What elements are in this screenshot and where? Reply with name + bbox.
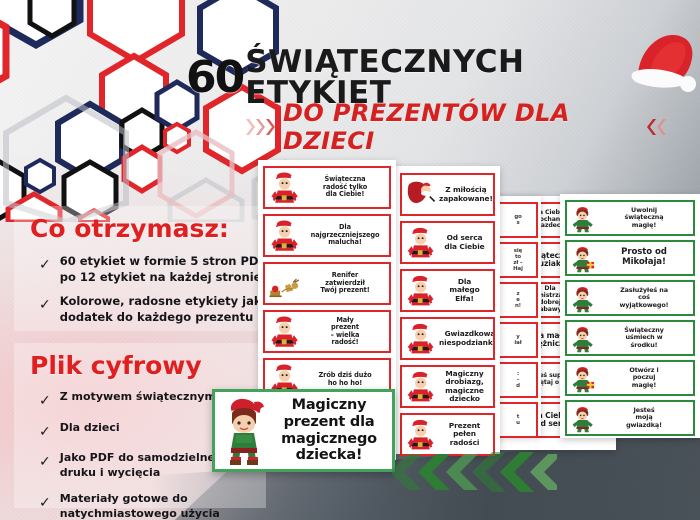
gift-label-text: Zrób dziś dużo ho ho ho! xyxy=(304,372,386,387)
gift-label-text: Z miłością zapakowane! xyxy=(439,186,493,203)
chevrons-right-icon xyxy=(246,119,275,135)
gift-label: Jesteś moją gwiazdką! xyxy=(565,400,695,436)
elf-dancing-icon xyxy=(570,283,596,313)
chevrons-left-icon xyxy=(647,119,666,135)
gift-label-text: Świąteczna radość tylko dla Ciebie! xyxy=(304,176,386,198)
elf-standing-icon xyxy=(570,323,596,353)
santa-sunglasses-icon xyxy=(268,170,302,206)
gift-label-clipped: go s xyxy=(498,202,538,238)
gift-label-text: Dla najgrzeczniejszego malucha! xyxy=(304,224,386,246)
list-item-label: Materiały gotowe do natychmiastowego uży… xyxy=(60,492,220,520)
sleigh-reindeer-icon xyxy=(268,266,302,302)
gift-label-text: Gwiazdkowa niespodzianka! xyxy=(439,330,495,347)
elf-girl-icon xyxy=(570,203,596,233)
santa-peeking-bottom-icon xyxy=(405,321,437,357)
gift-label-clipped: z e n! xyxy=(498,282,538,318)
gift-label-clipped: t u xyxy=(498,402,538,438)
gift-label: Dla najgrzeczniejszego malucha! xyxy=(263,214,391,257)
elf-presents-icon xyxy=(570,363,596,393)
gift-label-text: Zasłużyłeś na coś wyjątkowego! xyxy=(598,287,690,309)
gift-label: Uwolnij świąteczną magię! xyxy=(565,200,695,236)
gift-label-text: : – d xyxy=(503,371,533,389)
poster-subtitle: DO PREZENTÓW DLA DZIECI xyxy=(246,112,666,142)
check-icon: ✓ xyxy=(39,424,51,441)
gift-label-clipped: się to zł – Haj xyxy=(498,242,538,278)
gift-label-text: Świąteczny uśmiech w środku! xyxy=(598,327,690,349)
gift-label-text: Od serca dla Ciebie xyxy=(439,234,490,251)
poster-canvas: 60 ŚWIĄTECZNYCH ETYKIET DO PREZENTÓW DLA… xyxy=(0,0,700,520)
label-sheet-santa-b: Z miłością zapakowane! Od serca dla Cieb… xyxy=(395,166,500,454)
check-icon: ✓ xyxy=(39,257,51,274)
gift-label-text: y iał xyxy=(503,334,533,346)
santa-jumping-icon xyxy=(405,225,437,261)
title-count: 60 xyxy=(186,56,243,100)
check-icon: ✓ xyxy=(39,495,51,512)
list-item-label: Z motywem świątecznym xyxy=(60,390,216,405)
check-icon: ✓ xyxy=(39,454,51,471)
gift-label-text: się to zł – Haj xyxy=(503,248,533,272)
list-item: ✓ Kolorowe, radosne etykiety jako dodate… xyxy=(30,294,270,325)
santa-sack-icon xyxy=(405,177,437,213)
gift-label-text: go s xyxy=(503,214,533,226)
label-sheet-partial: go ssię to zł – Hajz e n!y iał: – dt u xyxy=(495,196,541,436)
santa-waving-icon xyxy=(268,218,302,254)
gift-label-text: Otwórz i poczuj magię! xyxy=(598,367,690,389)
list-item: ✓ 60 etykiet w formie 5 stron PDF po 12 … xyxy=(30,254,270,285)
check-icon: ✓ xyxy=(39,297,51,314)
gift-label-text: Prezent pełen radości xyxy=(439,422,490,447)
gift-label: Od serca dla Ciebie xyxy=(400,221,495,264)
gift-label: Magiczny drobiazg, magiczne dziecko xyxy=(400,365,495,408)
gift-label-text: Prosto od Mikołaja! xyxy=(598,248,690,267)
poster-title: 60 ŚWIĄTECZNYCH ETYKIET xyxy=(186,52,656,104)
elf-cheering-icon xyxy=(570,403,596,433)
elf-gift-icon xyxy=(570,243,596,273)
santa-list-icon xyxy=(268,314,302,350)
gift-label-text: Mały prezent – wielka radość! xyxy=(304,317,386,347)
gift-label-text: Dla małego Elfa! xyxy=(439,278,490,303)
gift-label-clipped: y iał xyxy=(498,322,538,358)
gift-label: Świąteczna radość tylko dla Ciebie! xyxy=(263,166,391,209)
gift-label-text: z e n! xyxy=(503,291,533,309)
gift-label-text: Renifer zatwierdził Twój prezent! xyxy=(304,272,386,294)
subtitle-text: DO PREZENTÓW DLA DZIECI xyxy=(283,99,639,155)
list-item: ✓ Materiały gotowe do natychmiastowego u… xyxy=(30,492,266,520)
list-item-label: 60 etykiet w formie 5 stron PDF po 12 et… xyxy=(60,254,267,285)
featured-label-card: Magiczny prezent dla magicznego dziecka! xyxy=(212,389,395,472)
digital-file-heading: Plik cyfrowy xyxy=(30,353,266,378)
benefits-heading: Co otrzymasz: xyxy=(30,216,270,241)
label-sheet-elves: Uwolnij świąteczną magię! Prosto od Miko… xyxy=(560,194,700,438)
santa-small-icon xyxy=(405,417,437,453)
santa-hat-icon xyxy=(630,26,698,96)
gift-label-text: Magiczny drobiazg, magiczne dziecko xyxy=(439,370,490,403)
gift-label: Mały prezent – wielka radość! xyxy=(263,310,391,353)
green-chevrons-left-icon xyxy=(392,452,557,496)
check-icon: ✓ xyxy=(39,393,51,410)
gift-label: Prosto od Mikołaja! xyxy=(565,240,695,276)
gift-label-clipped: : – d xyxy=(498,362,538,398)
benefits-panel: Co otrzymasz: ✓ 60 etykiet w formie 5 st… xyxy=(14,206,270,331)
elf-sitting-icon xyxy=(218,396,270,466)
gift-label-text: Jesteś moją gwiazdką! xyxy=(598,407,690,429)
featured-label-text: Magiczny prezent dla magicznego dziecka! xyxy=(272,397,386,465)
gift-label-text: t u xyxy=(503,414,533,426)
gift-label: Otwórz i poczuj magię! xyxy=(565,360,695,396)
santa-standing-icon xyxy=(405,273,437,309)
gift-label-text: Uwolnij świąteczną magię! xyxy=(598,207,690,229)
gift-label: Prezent pełen radości xyxy=(400,413,495,456)
gift-label: Zasłużyłeś na coś wyjątkowego! xyxy=(565,280,695,316)
gift-label: Renifer zatwierdził Twój prezent! xyxy=(263,262,391,305)
gift-label: Z miłością zapakowane! xyxy=(400,173,495,216)
list-item-label: Jako PDF do samodzielnego druku i wycięc… xyxy=(60,451,231,481)
gift-label: Świąteczny uśmiech w środku! xyxy=(565,320,695,356)
santa-cheering-icon xyxy=(405,369,437,405)
gift-label: Gwiazdkowa niespodzianka! xyxy=(400,317,495,360)
benefits-list: ✓ 60 etykiet w formie 5 stron PDF po 12 … xyxy=(30,254,270,326)
list-item-label: Dla dzieci xyxy=(60,421,120,436)
gift-label: Dla małego Elfa! xyxy=(400,269,495,312)
list-item-label: Kolorowe, radosne etykiety jako dodatek … xyxy=(60,294,269,325)
